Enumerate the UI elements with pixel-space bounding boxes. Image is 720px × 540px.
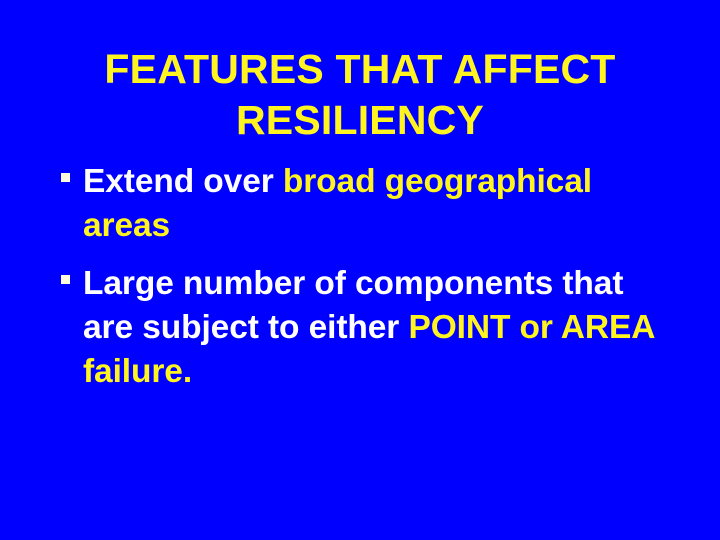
square-bullet-icon [61,173,70,182]
square-bullet-icon [61,275,70,284]
presentation-slide: FEATURES THAT AFFECT RESILIENCY Extend o… [0,0,720,540]
bullet-item: Extend over broad geographical areas [58,160,682,248]
slide-title: FEATURES THAT AFFECT RESILIENCY [40,44,680,146]
bullet-text-segment: Extend over [83,163,283,200]
bullet-item: Large number of components that are subj… [58,262,682,394]
slide-body-content: Extend over broad geographical areas Lar… [58,160,682,408]
